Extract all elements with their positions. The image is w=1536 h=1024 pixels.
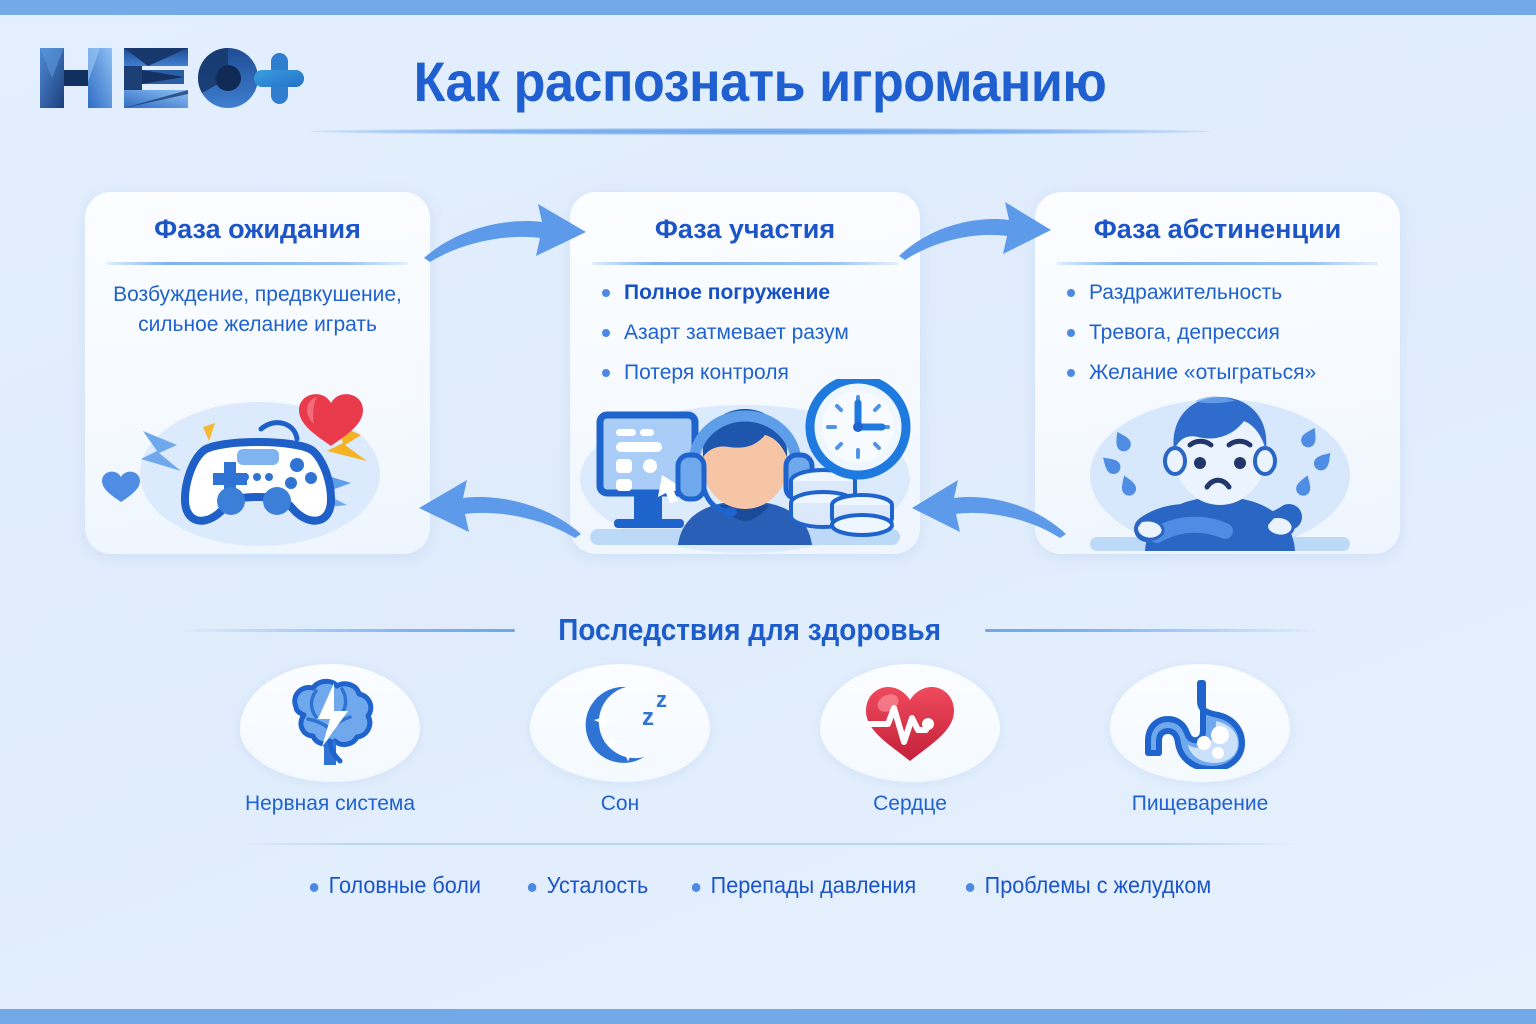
top-border-band (0, 0, 1536, 15)
organ-digestion[interactable]: Пищеварение (1100, 664, 1300, 834)
organ-heart[interactable]: Сердце (810, 664, 1010, 834)
svg-text:z: z (656, 687, 667, 712)
moon-zzz-icon: z z (564, 677, 676, 769)
organ-blob (820, 664, 1000, 782)
organ-label: Сердце (873, 792, 947, 816)
list-item: Азарт затмевает разум (598, 320, 904, 346)
list-item: Тревога, депрессия (1063, 320, 1384, 346)
phase-card-engagement[interactable]: Фаза участия Полное погружение Азарт зат… (570, 192, 920, 554)
bullet-dot-icon (1067, 369, 1075, 377)
card-divider (592, 262, 898, 265)
svg-text:z: z (642, 704, 654, 731)
sad-boy-illustration (1035, 379, 1400, 554)
symptom-label: Головные боли (328, 872, 480, 898)
bullet-dot-icon (528, 883, 536, 892)
bullet-dot-icon (966, 883, 974, 892)
phase-bullet-list: Раздражительность Тревога, депрессия Жел… (1051, 280, 1384, 386)
symptoms-divider (235, 843, 1300, 845)
organ-blob (240, 664, 420, 782)
symptom-item: Перепады давления (690, 872, 916, 899)
bullet-label: Раздражительность (1089, 281, 1282, 304)
brand-logo (38, 42, 306, 114)
bullet-dot-icon (692, 883, 700, 892)
symptom-label: Проблемы с желудком (985, 872, 1212, 898)
page-title: Как распознать игроманию (360, 42, 1160, 120)
arrow-phase2-to-phase1 (405, 478, 585, 548)
phase-card-body: Возбуждение, предвкушение, сильное желан… (101, 280, 414, 340)
infographic-canvas: Как распознать игроманию Фаза ожидания В… (0, 0, 1536, 1024)
bullet-dot-icon (602, 369, 610, 377)
bullet-dot-icon (602, 289, 610, 297)
bullet-label: Азарт затмевает разум (624, 321, 849, 344)
bullet-label: Полное погружение (624, 281, 830, 304)
organ-label: Нервная система (245, 792, 415, 816)
symptom-item: Усталость (526, 872, 648, 899)
consequences-heading-row: Последствия для здоровья (180, 606, 1320, 654)
symptom-item: Проблемы с желудком (964, 872, 1211, 899)
bullet-dot-icon (309, 883, 317, 892)
consequences-heading: Последствия для здоровья (559, 612, 942, 648)
bullet-label: Тревога, депрессия (1089, 321, 1280, 344)
phase-bullet-list: Полное погружение Азарт затмевает разум … (586, 280, 904, 386)
symptom-label: Перепады давления (710, 872, 916, 898)
symptoms-row: Головные боли Усталость Перепады давлени… (235, 858, 1300, 912)
organ-label: Пищеварение (1132, 792, 1269, 816)
title-underline (310, 128, 1210, 135)
bullet-dot-icon (1067, 289, 1075, 297)
phase-card-title: Фаза участия (570, 214, 920, 245)
symptom-item: Головные боли (308, 872, 481, 899)
organs-row: Нервная система z z Сон (230, 664, 1300, 834)
heart-pulse-icon (854, 677, 966, 769)
list-item: Полное погружение (598, 280, 904, 306)
phase-card-withdrawal[interactable]: Фаза абстиненции Раздражительность Трево… (1035, 192, 1400, 554)
organ-blob: z z (530, 664, 710, 782)
organ-sleep[interactable]: z z Сон (520, 664, 720, 834)
bullet-dot-icon (602, 329, 610, 337)
organ-nervous-system[interactable]: Нервная система (230, 664, 430, 834)
organ-blob (1110, 664, 1290, 782)
phase-card-title: Фаза ожидания (85, 214, 430, 245)
arrow-phase2-to-phase3 (895, 198, 1055, 268)
gamer-headset-clock-coins-illustration (570, 379, 920, 554)
symptom-label: Усталость (546, 872, 648, 898)
heading-rule-right (985, 629, 1320, 632)
gamepad-hearts-illustration (85, 379, 430, 554)
stomach-icon (1144, 677, 1256, 769)
phase-description: Возбуждение, предвкушение, сильное желан… (101, 280, 414, 340)
brain-lightning-icon (274, 677, 386, 769)
organ-label: Сон (601, 792, 639, 816)
card-divider (1057, 262, 1378, 265)
card-divider (107, 262, 408, 265)
heading-rule-left (180, 629, 515, 632)
list-item: Раздражительность (1063, 280, 1384, 306)
phase-card-anticipation[interactable]: Фаза ожидания Возбуждение, предвкушение,… (85, 192, 430, 554)
arrow-phase3-to-phase2 (900, 478, 1070, 548)
bullet-dot-icon (1067, 329, 1075, 337)
phase-card-title: Фаза абстиненции (1035, 214, 1400, 245)
arrow-phase1-to-phase2 (420, 198, 590, 268)
bottom-border-band (0, 1009, 1536, 1024)
